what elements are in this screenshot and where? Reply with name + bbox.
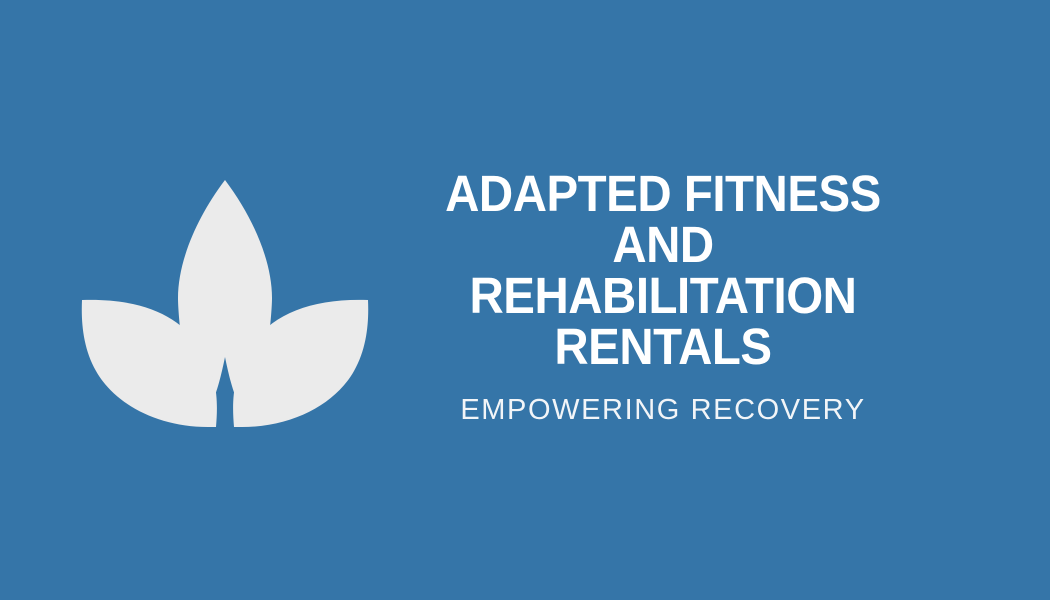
- banner-text-block: ADAPTED FITNESS AND REHABILITATION RENTA…: [398, 168, 928, 426]
- logo-banner: ADAPTED FITNESS AND REHABILITATION RENTA…: [0, 0, 1050, 600]
- headline-line-2: AND: [417, 219, 910, 270]
- headline-line-1: ADAPTED FITNESS: [417, 168, 910, 219]
- lotus-plant-leaves-icon: [70, 165, 380, 435]
- headline-line-3: REHABILITATION: [417, 270, 910, 321]
- headline-line-4: RENTALS: [417, 321, 910, 372]
- tagline: EMPOWERING RECOVERY: [398, 372, 928, 426]
- page-title: ADAPTED FITNESS AND REHABILITATION RENTA…: [417, 168, 910, 372]
